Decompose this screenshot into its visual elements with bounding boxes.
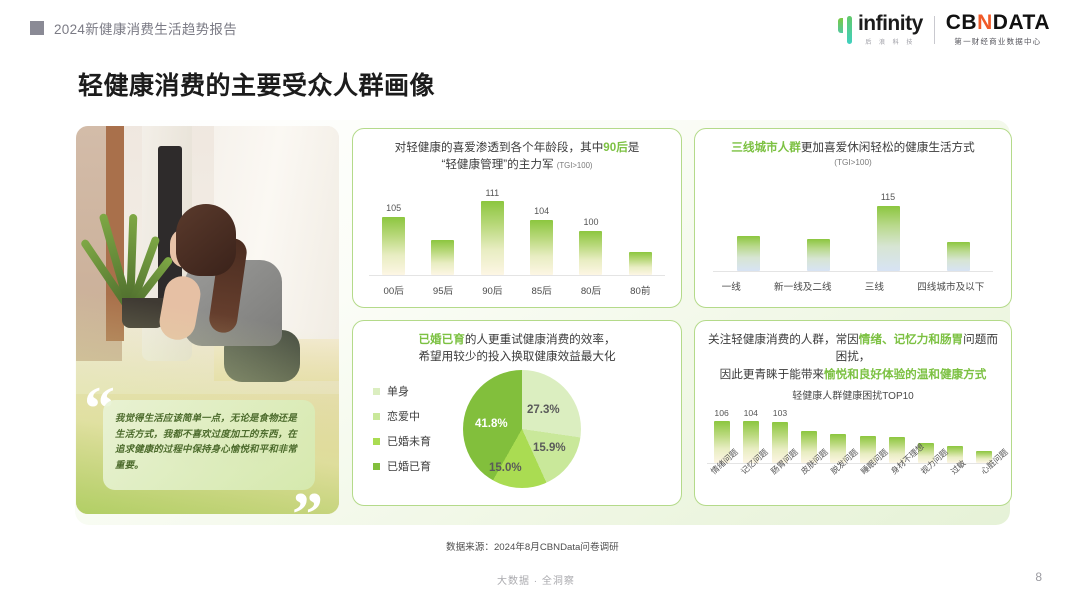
pie-legend-item: 已婚已育 xyxy=(373,458,459,474)
quote-close-mark-icon: ” xyxy=(292,492,323,539)
infinity-mark-icon xyxy=(838,16,855,46)
card-family-title-post: 的人更重试健康消费的效率， xyxy=(465,333,616,346)
legend-swatch-icon xyxy=(373,438,380,445)
card-health-title-hl1: 情绪、记忆力和肠胃 xyxy=(859,333,963,346)
cbn-n-letter: N xyxy=(977,11,993,34)
pie-slice-label: 15.0% xyxy=(489,462,522,474)
bar xyxy=(947,242,970,271)
chart-health-xlabels: 情绪问题记忆问题肠胃问题皮肤问题脱发问题睡眠问题身材不理想视力问题过敏心脏问题 xyxy=(703,466,1003,512)
bar xyxy=(629,252,652,275)
x-axis-label-cell: 脱发问题 xyxy=(824,466,852,512)
bar-value-label: 115 xyxy=(881,192,895,203)
bar xyxy=(382,217,405,275)
x-axis-label: 新一线及二线 xyxy=(774,279,832,293)
card-age-title-highlight: 90后 xyxy=(603,141,628,154)
pie-legend-item: 恋爱中 xyxy=(373,408,459,424)
quote-text: 我觉得生活应该简单一点，无论是食物还是生活方式，我都不喜欢过度加工的东西，在追求… xyxy=(115,410,303,472)
bar xyxy=(579,231,602,275)
infinity-logo-sub: 后 浪 科 技 xyxy=(865,37,915,46)
bar xyxy=(431,240,454,275)
card-family-status: 已婚已育的人更重试健康消费的效率， 希望用较少的投入换取健康效益最大化 单身恋爱… xyxy=(352,320,682,506)
card-age-distribution: 对轻健康的喜爱渗透到各个年龄段，其中90后是 “轻健康管理”的主力军 (TGI>… xyxy=(352,128,682,308)
card-age-title: 对轻健康的喜爱渗透到各个年龄段，其中90后是 “轻健康管理”的主力军 (TGI>… xyxy=(353,129,681,174)
data-source: 数据来源：2024年8月CBNData问卷调研 xyxy=(446,539,619,553)
bar-column: 111 xyxy=(481,188,504,275)
card-family-title: 已婚已育的人更重试健康消费的效率， 希望用较少的投入换取健康效益最大化 xyxy=(353,321,681,366)
x-axis-label: 四线城市及以下 xyxy=(917,279,984,293)
x-axis-label: 85后 xyxy=(532,283,552,297)
legend-label: 恋爱中 xyxy=(387,408,420,424)
card-age-tgi-note: (TGI>100) xyxy=(557,161,593,170)
cbn-prefix: CB xyxy=(946,11,977,34)
chart-age-xlabels: 00后95后90后85后80后80前 xyxy=(369,283,665,297)
bar-column: 100 xyxy=(579,188,602,275)
x-axis-label-cell: 情绪问题 xyxy=(704,466,732,512)
x-axis-label: 一线 xyxy=(722,279,741,293)
card-health-title-pre2: 因此更青睐于能带来 xyxy=(720,368,824,381)
page-title: 轻健康消费的主要受众人群画像 xyxy=(78,66,435,102)
card-health-concerns: 关注轻健康消费的人群，常因情绪、记忆力和肠胃问题而困扰， 因此更青睐于能带来愉悦… xyxy=(694,320,1012,506)
x-axis-label-cell: 皮肤问题 xyxy=(794,466,822,512)
x-axis-label-cell: 视力问题 xyxy=(914,466,942,512)
legend-swatch-icon xyxy=(373,463,380,470)
card-age-title-pre: 对轻健康的喜爱渗透到各个年龄段，其中 xyxy=(395,141,604,154)
bar-column xyxy=(947,192,970,271)
bar-column xyxy=(431,188,454,275)
report-header: 2024新健康消费生活趋势报告 xyxy=(30,18,237,38)
quote-box: 我觉得生活应该简单一点，无论是食物还是生活方式，我都不喜欢过度加工的东西，在追求… xyxy=(103,400,315,490)
card-age-title-post: 是 xyxy=(628,141,640,154)
card-city-title-highlight: 三线城市人群 xyxy=(731,141,801,154)
card-health-title: 关注轻健康消费的人群，常因情绪、记忆力和肠胃问题而困扰， 因此更青睐于能带来愉悦… xyxy=(695,321,1011,383)
cbndata-logo-name: CBNDATA xyxy=(946,12,1050,33)
infinity-logo: infinity 后 浪 科 技 xyxy=(838,13,923,46)
bar-column xyxy=(737,192,760,271)
bar-column: 105 xyxy=(382,188,405,275)
chart-city-xlabels: 一线新一线及二线三线四线城市及以下 xyxy=(705,279,1001,293)
bar-column: 115 xyxy=(877,192,900,271)
pie-legend-item: 已婚未育 xyxy=(373,433,459,449)
x-axis-label-cell: 肠胃问题 xyxy=(764,466,792,512)
x-axis-label-cell: 心脏问题 xyxy=(974,466,1002,512)
cbndata-logo-sub: 第一财经商业数据中心 xyxy=(954,36,1041,47)
card-health-title-hl2: 愉悦和良好体验的温和健康方式 xyxy=(824,368,986,381)
infinity-logo-name: infinity xyxy=(858,13,923,34)
bar-value-label: 111 xyxy=(485,188,499,199)
pie-chart: 27.3%15.9%15.0%41.8% xyxy=(463,370,581,488)
x-axis-label: 80后 xyxy=(581,283,601,297)
cbn-suffix: DATA xyxy=(993,11,1050,34)
bar-value-label: 104 xyxy=(534,206,549,217)
pie-slice-label: 15.9% xyxy=(533,442,566,454)
x-axis-label: 三线 xyxy=(865,279,884,293)
pie-chart-area: 单身恋爱中已婚未育已婚已育 27.3%15.9%15.0%41.8% xyxy=(353,366,681,488)
bar-value-label: 103 xyxy=(773,408,787,419)
card-city-title: 三线城市人群更加喜爱休闲轻松的健康生活方式 (TGI>100) xyxy=(695,129,1011,170)
report-title: 2024新健康消费生活趋势报告 xyxy=(54,18,237,38)
bar-column xyxy=(976,408,992,463)
bar-value-label: 106 xyxy=(714,408,728,418)
card-family-title-line2: 希望用较少的投入换取健康效益最大化 xyxy=(418,350,615,363)
card-city-title-post: 更加喜爱休闲轻松的健康生活方式 xyxy=(801,141,975,154)
bar xyxy=(877,206,900,271)
legend-label: 单身 xyxy=(387,383,409,399)
x-axis-label-cell: 过敏 xyxy=(944,466,972,512)
card-city-tgi-note: (TGI>100) xyxy=(707,157,999,169)
x-axis-label: 90后 xyxy=(482,283,502,297)
legend-label: 已婚未育 xyxy=(387,433,431,449)
footer-tagline: 大数据 · 全洞察 xyxy=(497,572,575,587)
logo-divider xyxy=(934,16,935,44)
card-health-title-pre: 关注轻健康消费的人群，常因 xyxy=(708,333,859,346)
bar xyxy=(530,220,553,275)
bar-column xyxy=(629,188,652,275)
bar-column xyxy=(807,192,830,271)
card-age-title-line2: “轻健康管理”的主力军 xyxy=(441,158,553,171)
square-bullet-icon xyxy=(30,21,44,35)
x-axis-label: 95后 xyxy=(433,283,453,297)
x-axis-label: 80前 xyxy=(630,283,650,297)
pie-slice-label: 27.3% xyxy=(527,404,560,416)
card-family-title-highlight: 已婚已育 xyxy=(418,333,464,346)
bar-value-label: 105 xyxy=(386,203,401,214)
bar-value-label: 104 xyxy=(744,408,758,418)
page-number: 8 xyxy=(1035,570,1042,584)
x-axis-label-cell: 睡眠问题 xyxy=(854,466,882,512)
legend-label: 已婚已育 xyxy=(387,458,431,474)
bar-value-label: 100 xyxy=(583,217,598,228)
chart-health-subtitle: 轻健康人群健康困扰TOP10 xyxy=(695,387,1011,402)
x-axis-label: 00后 xyxy=(384,283,404,297)
x-axis-label-cell: 记忆问题 xyxy=(734,466,762,512)
bar xyxy=(807,239,830,271)
legend-swatch-icon xyxy=(373,413,380,420)
card-city-tier: 三线城市人群更加喜爱休闲轻松的健康生活方式 (TGI>100) 115 一线新一… xyxy=(694,128,1012,308)
chart-city-bars: 115 xyxy=(713,192,993,272)
x-axis-label-cell: 身材不理想 xyxy=(884,466,912,512)
legend-swatch-icon xyxy=(373,388,380,395)
bar xyxy=(481,201,504,274)
pie-legend-item: 单身 xyxy=(373,383,459,399)
cbndata-logo: CBNDATA 第一财经商业数据中心 xyxy=(946,12,1050,47)
pie-legend: 单身恋爱中已婚未育已婚已育 xyxy=(367,374,459,483)
pie-slice-label: 41.8% xyxy=(475,418,508,430)
bar xyxy=(737,236,760,270)
bar-column: 104 xyxy=(530,188,553,275)
brand-logos: infinity 后 浪 科 技 CBNDATA 第一财经商业数据中心 xyxy=(838,12,1050,47)
chart-age-bars: 105111104100 xyxy=(369,188,665,276)
